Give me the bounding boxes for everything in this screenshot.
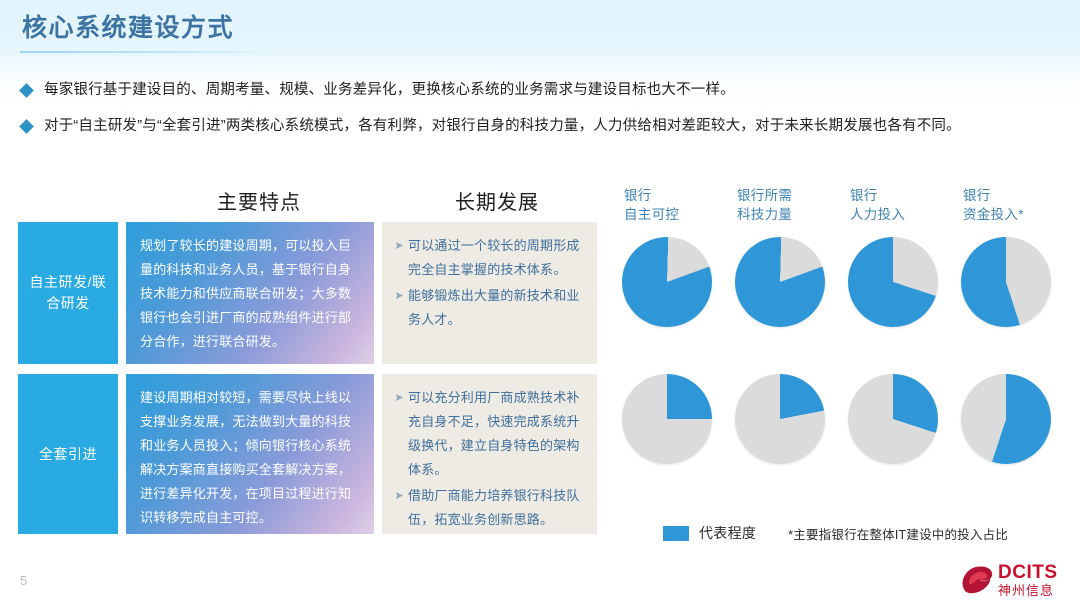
- company-logo: DCITS 神州信息: [958, 560, 1070, 600]
- row-label-full-import: 全套引进: [18, 374, 118, 534]
- pie-row-self-research: [620, 237, 1072, 327]
- arrow-bullet-icon: ➤: [390, 234, 408, 258]
- row-label-self-research: 自主研发/联合研发: [18, 222, 118, 364]
- bullet-text: 对于“自主研发”与“全套引进”两类核心系统模式，各有利弊，对银行自身的科技力量，…: [44, 116, 961, 136]
- longterm-text: 可以充分利用厂商成熟技术补充自身不足，快速完成系统升级换代，建立自身特色的架构体…: [408, 386, 587, 482]
- diamond-bullet-icon: [19, 119, 34, 134]
- slide-root: 核心系统建设方式 每家银行基于建设目的、周期考量、规模、业务差异化，更换核心系统…: [0, 0, 1080, 608]
- pie-chart-panel: 银行 自主可控 银行所需 科技力量 银行 人力投入 银行 资金投入*: [620, 186, 1072, 464]
- page-number: 5: [20, 573, 27, 588]
- legend-footnote: *主要指银行在整体IT建设中的投入占比: [788, 524, 1008, 543]
- chart-legend: 代表程度 *主要指银行在整体IT建设中的投入占比: [663, 523, 1008, 543]
- pie-chart: [961, 237, 1051, 327]
- column-header-main-feature: 主要特点: [217, 186, 301, 215]
- logo-text-en: DCITS: [998, 563, 1058, 582]
- column-header-long-term: 长期发展: [455, 186, 539, 215]
- longterm-text: 能够锻炼出大量的新技术和业务人才。: [408, 284, 587, 332]
- pie-chart: [848, 237, 938, 327]
- list-item: ➤ 借助厂商能力培养银行科技队伍，拓宽业务创新思路。: [390, 484, 587, 532]
- pie-cell: [959, 237, 1072, 327]
- arrow-bullet-icon: ➤: [390, 386, 408, 410]
- list-item: 每家银行基于建设目的、周期考量、规模、业务差异化，更换核心系统的业务需求与建设目…: [20, 80, 1065, 100]
- bullet-list: 每家银行基于建设目的、周期考量、规模、业务差异化，更换核心系统的业务需求与建设目…: [20, 80, 1065, 152]
- pie-cell: [620, 374, 733, 464]
- pie-chart: [848, 374, 938, 464]
- pie-category-label-0: 银行 自主可控: [620, 186, 733, 224]
- pie-cell: [733, 374, 846, 464]
- table-row: 全套引进 建设周期相对较短，需要尽快上线以支撑业务发展，无法做到大量的科技和业务…: [18, 374, 606, 534]
- bullet-text: 每家银行基于建设目的、周期考量、规模、业务差异化，更换核心系统的业务需求与建设目…: [44, 80, 735, 100]
- pie-chart: [622, 374, 712, 464]
- logo-text-cn: 神州信息: [998, 584, 1058, 597]
- table-row: 自主研发/联合研发 规划了较长的建设周期，可以投入巨量的科技和业务人员，基于银行…: [18, 222, 606, 364]
- pie-cell: [959, 374, 1072, 464]
- pie-cell: [733, 237, 846, 327]
- arrow-bullet-icon: ➤: [390, 284, 408, 308]
- longterm-text: 借助厂商能力培养银行科技队伍，拓宽业务创新思路。: [408, 484, 587, 532]
- legend-swatch-icon: [663, 526, 689, 541]
- row-longterm-self-research: ➤ 可以通过一个较长的周期形成完全自主掌握的技术体系。 ➤ 能够锻炼出大量的新技…: [382, 222, 597, 364]
- pie-category-headers: 银行 自主可控 银行所需 科技力量 银行 人力投入 银行 资金投入*: [620, 186, 1072, 224]
- pie-chart: [622, 237, 712, 327]
- pie-chart: [735, 237, 825, 327]
- pie-chart: [735, 374, 825, 464]
- pie-category-label-3: 银行 资金投入*: [959, 186, 1072, 224]
- list-item: ➤ 能够锻炼出大量的新技术和业务人才。: [390, 284, 587, 332]
- longterm-text: 可以通过一个较长的周期形成完全自主掌握的技术体系。: [408, 234, 587, 282]
- list-item: ➤ 可以充分利用厂商成熟技术补充自身不足，快速完成系统升级换代，建立自身特色的架…: [390, 386, 587, 482]
- pie-category-label-2: 银行 人力投入: [846, 186, 959, 224]
- pie-cell: [620, 237, 733, 327]
- row-longterm-full-import: ➤ 可以充分利用厂商成熟技术补充自身不足，快速完成系统升级换代，建立自身特色的架…: [382, 374, 597, 534]
- row-description-full-import: 建设周期相对较短，需要尽快上线以支撑业务发展，无法做到大量的科技和业务人员投入；…: [126, 374, 374, 534]
- list-item: ➤ 可以通过一个较长的周期形成完全自主掌握的技术体系。: [390, 234, 587, 282]
- title-divider: [20, 51, 272, 53]
- dcits-swirl-icon: [958, 562, 996, 598]
- pie-chart: [961, 374, 1051, 464]
- arrow-bullet-icon: ➤: [390, 484, 408, 508]
- row-description-self-research: 规划了较长的建设周期，可以投入巨量的科技和业务人员，基于银行自身技术能力和供应商…: [126, 222, 374, 364]
- page-title: 核心系统建设方式: [22, 11, 234, 45]
- diamond-bullet-icon: [19, 83, 34, 98]
- pie-cell: [846, 374, 959, 464]
- logo-wordmark: DCITS 神州信息: [998, 563, 1058, 597]
- comparison-matrix: 自主研发/联合研发 规划了较长的建设周期，可以投入巨量的科技和业务人员，基于银行…: [18, 222, 606, 544]
- pie-category-label-1: 银行所需 科技力量: [733, 186, 846, 224]
- list-item: 对于“自主研发”与“全套引进”两类核心系统模式，各有利弊，对银行自身的科技力量，…: [20, 116, 1065, 136]
- legend-label: 代表程度: [699, 523, 756, 543]
- pie-row-full-import: [620, 374, 1072, 464]
- pie-cell: [846, 237, 959, 327]
